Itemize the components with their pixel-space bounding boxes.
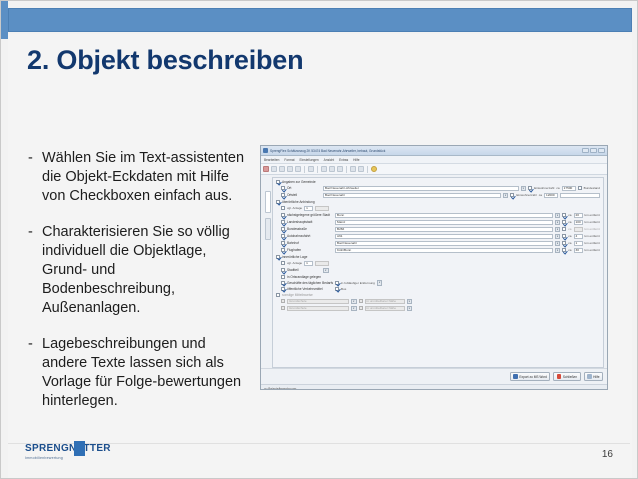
checkbox-verkehrsmittel[interactable] [281, 287, 285, 291]
bold-icon[interactable] [321, 166, 327, 172]
checkbox-bundesstrasse[interactable] [281, 227, 285, 231]
label-anlage: vgl. Anlage [287, 206, 302, 210]
menu-item-einstellungen[interactable]: Einstellungen [300, 158, 319, 162]
list-item: - Charakterisieren Sie so völlig individ… [28, 223, 248, 318]
checkbox-bus[interactable] [335, 287, 339, 291]
input-bundesstrasse[interactable]: B266 [335, 227, 553, 233]
table-row: Ortsteil Bad Neuenahr ▾ Einwohnerzahl ca… [276, 193, 600, 199]
copy-icon[interactable] [279, 166, 285, 172]
input-distanz-landeshauptstadt[interactable]: 100 [574, 220, 583, 226]
table-row: Ort Bad Neuenahr-Ahrweiler ▾ Einwohnerza… [276, 186, 600, 192]
prefix-ca: ca [568, 241, 571, 245]
prefix-ca: ca [568, 227, 571, 231]
prefix-ca: ca [539, 193, 542, 197]
checkbox-distanz-flughafen[interactable] [562, 248, 566, 252]
table-row: öffentliche Verkehrsmittel Bus [276, 287, 600, 291]
export-word-label: Export zu MS Word [519, 375, 547, 379]
checkbox-bundesland[interactable] [578, 186, 582, 190]
chevron-down-icon[interactable]: ▾ [555, 234, 561, 240]
underline-icon[interactable] [337, 166, 343, 172]
input-naehe-2[interactable]: in unmittelbarer Nähe [365, 306, 405, 312]
chevron-down-icon[interactable]: ▾ [407, 299, 413, 305]
group-label: sonstige Mitteilsweise [282, 293, 313, 297]
checkbox-distanz-bundesstrasse[interactable] [562, 227, 566, 231]
group-label: innerörtliche Lage [282, 255, 307, 259]
checkbox-autobahn[interactable] [281, 234, 285, 238]
checkbox-einwohnerzahl-ortsteil[interactable] [510, 193, 514, 197]
app-statusbar: zu Beispielberechnung [261, 384, 607, 390]
input-distanz-stadt[interactable]: 20 [574, 213, 583, 219]
form-area: Angaben zur Gemeinde Ort Bad Neuenahr-Ah… [272, 177, 604, 368]
chevron-down-icon[interactable]: ▾ [503, 193, 509, 199]
checkbox-ort[interactable] [281, 186, 285, 190]
checkbox-groessere-stadt[interactable] [281, 213, 285, 217]
group-label: überörtliche Anbindung [282, 200, 315, 204]
unit-km: km entfernt [585, 248, 600, 252]
bullet-text: Lagebeschreibungen und andere Texte lass… [42, 335, 248, 411]
chevron-down-icon[interactable]: ▾ [351, 299, 357, 305]
menu-item-ansicht[interactable]: Ansicht [324, 158, 334, 162]
close-label: Schließen [563, 375, 577, 379]
app-title: SprengFlex Schätzanzug 2K 53474 Bad Neue… [270, 149, 582, 153]
input-ortsteil[interactable]: Bad Neuenahr [323, 193, 501, 199]
page-title: 2. Objekt beschreiben [27, 45, 303, 76]
app-form-body: Angaben zur Gemeinde Ort Bad Neuenahr-Ah… [261, 175, 607, 368]
window-controls [582, 148, 605, 153]
bullet-list: - Wählen Sie im Text-assistenten die Obj… [28, 149, 248, 428]
table-row: Grundschule ▾ in unmittelbarer Nähe ▾ [276, 306, 600, 312]
vertical-tab-strip [264, 177, 272, 368]
checkbox-anbindung[interactable] [276, 200, 280, 204]
table-row: Landeshauptstadt Mainz ▾ ca 100 km entfe… [276, 220, 600, 226]
input-einwohnerzahl-ortsteil[interactable]: 12000 [544, 193, 558, 199]
minimize-icon[interactable] [582, 148, 589, 153]
checkbox-einwohnerzahl[interactable] [528, 186, 532, 190]
label-ort: Ort [287, 186, 321, 190]
table-row: Grundschule ▾ in unmittelbarer Nähe ▾ [276, 299, 600, 305]
logo-accent-box [74, 441, 85, 456]
info-icon[interactable] [371, 166, 377, 172]
unit-km: km entfernt [585, 234, 600, 238]
checkbox-naehe-2[interactable] [359, 306, 363, 310]
checkbox-innerortliche-lage[interactable] [276, 255, 280, 259]
chevron-down-icon[interactable]: ▾ [555, 241, 561, 247]
chevron-down-icon[interactable]: ▾ [351, 306, 357, 312]
menu-item-hilfe[interactable]: Hilfe [353, 158, 359, 162]
checkbox-taeglicher-bedarf[interactable] [281, 281, 285, 285]
bullet-marker: - [28, 149, 42, 168]
input-distanz-flughafen[interactable]: 30 [574, 248, 583, 254]
toolbar-separator [346, 166, 347, 173]
table-row: Autobahnzufahrt A61 ▾ ca 4 km entfernt [276, 234, 600, 240]
table-row: Bundesstraße B266 ▾ ca km entfernt [276, 227, 600, 233]
group-header: sonstige Mitteilsweise [276, 293, 600, 297]
slide: 2. Objekt beschreiben - Wählen Sie im Te… [0, 0, 638, 479]
checkbox-naehe-1[interactable] [359, 299, 363, 303]
input-autobahn[interactable]: A61 [335, 234, 553, 240]
logo-wordmark: SPRENGNETTER [25, 443, 111, 455]
application-screenshot: SprengFlex Schätzanzug 2K 53474 Bad Neue… [260, 145, 608, 390]
input-lage-anlage-nr[interactable]: 1 [304, 261, 313, 267]
checkbox-flughafen[interactable] [281, 248, 285, 252]
list-icon[interactable] [350, 166, 356, 172]
header-left-edge [1, 1, 8, 39]
input-einwohnerzahl[interactable]: 17500 [562, 186, 576, 192]
help-label: Hilfe [593, 375, 599, 379]
table-row: vgl. Anlage 1 [276, 206, 600, 212]
menu-item-extras[interactable]: Extras [339, 158, 348, 162]
table-row: in Ortsrandlage gelegen [276, 275, 600, 279]
prefix-ca: ca [568, 220, 571, 224]
logo-name: SPRENGNETTER [25, 443, 111, 454]
chevron-down-icon[interactable]: ▾ [521, 186, 527, 192]
label-autobahn: Autobahnzufahrt [287, 234, 333, 238]
input-distanz-bundesstrasse[interactable] [574, 227, 583, 233]
label-ortsteil: Ortsteil [287, 193, 321, 197]
prefix-ca: ca [568, 248, 571, 252]
chevron-down-icon[interactable]: ▾ [407, 306, 413, 312]
header-accent-bar [8, 8, 632, 32]
table-row: vgl. Anlage 1 [276, 261, 600, 267]
export-word-button[interactable]: Export zu MS Word [510, 372, 551, 381]
paste-icon[interactable] [287, 166, 293, 172]
input-bundesland[interactable] [560, 193, 600, 199]
tab-weitere[interactable] [265, 218, 271, 240]
label-flughafen: Flughafen [287, 248, 333, 252]
delete-icon[interactable] [295, 166, 301, 172]
app-menubar: Bearbeiten Format Einstellungen Ansicht … [261, 156, 607, 164]
checkbox-distanz-landeshauptstadt[interactable] [562, 220, 566, 224]
chevron-down-icon[interactable]: ▾ [323, 268, 329, 274]
table-row: Stadtteil ▾ [276, 268, 600, 274]
bullet-marker: - [28, 335, 42, 354]
input-flughafen[interactable]: Köln/Bonn [335, 248, 553, 254]
group-header: Angaben zur Gemeinde [276, 180, 600, 184]
label-bahnhof: Bahnhof [287, 241, 333, 245]
checkbox-gemeinde[interactable] [276, 180, 280, 184]
value-verkehrsmittel: Bus [341, 287, 346, 291]
checkbox-landeshauptstadt[interactable] [281, 220, 285, 224]
checkbox-sonstige[interactable] [276, 293, 280, 297]
input-groessere-stadt[interactable]: Bonn [335, 213, 553, 219]
input-naehe-1[interactable]: in unmittelbarer Nähe [365, 299, 405, 305]
unit-km: km entfernt [585, 220, 600, 224]
chevron-down-icon[interactable]: ▾ [555, 248, 561, 254]
bullet-text: Charakterisieren Sie so völlig individue… [42, 223, 248, 318]
app-toolbar [261, 164, 607, 175]
app-logo-icon [263, 148, 268, 153]
bullet-marker: - [28, 223, 42, 242]
group-anbindung: überörtliche Anbindung vgl. Anlage 1 näc… [276, 200, 600, 253]
help-icon [587, 374, 592, 379]
app-footer-buttons: Export zu MS Word Schließen Hilfe [261, 368, 607, 384]
label-bundesland: Bundesland [584, 186, 600, 190]
label-bundesstrasse: Bundesstraße [287, 227, 333, 231]
input-grundschule-1[interactable]: Grundschule [287, 299, 349, 305]
close-icon [557, 374, 562, 379]
input-landeshauptstadt[interactable]: Mainz [335, 220, 553, 226]
checkbox-grundschule-1[interactable] [281, 299, 285, 303]
toolbar-separator [317, 166, 318, 173]
checkbox-distanz-stadt[interactable] [562, 213, 566, 217]
input-anlage-text[interactable] [315, 206, 329, 212]
checkbox-distanz-autobahn[interactable] [562, 234, 566, 238]
checkbox-anlage[interactable] [281, 206, 285, 210]
prefix-ca: ca [556, 186, 559, 190]
list-item: - Wählen Sie im Text-assistenten die Obj… [28, 149, 248, 206]
list-item: - Lagebeschreibungen und andere Texte la… [28, 335, 248, 411]
toolbar-separator [367, 166, 368, 173]
table-row: nächstgelegene größere Stadt Bonn ▾ ca 2… [276, 213, 600, 219]
input-distanz-bahnhof[interactable]: 1 [574, 241, 583, 247]
checkbox-grundschule-2[interactable] [281, 306, 285, 310]
group-header: innerörtliche Lage [276, 255, 600, 259]
group-header: überörtliche Anbindung [276, 200, 600, 204]
page-number: 16 [602, 449, 613, 460]
chevron-down-icon[interactable]: ▾ [555, 213, 561, 219]
label-taeglicher-bedarf: Geschäfte des täglichen Bedarfs [287, 281, 333, 285]
prefix-ca: ca [568, 234, 571, 238]
word-icon [513, 374, 518, 379]
maximize-icon[interactable] [590, 148, 597, 153]
checkbox-ortsrandlage[interactable] [281, 275, 285, 279]
close-button[interactable]: Schließen [553, 372, 580, 381]
label-lage-anlage: vgl. Anlage [287, 261, 302, 265]
checkbox-stadtteil[interactable] [281, 268, 285, 272]
app-titlebar: SprengFlex Schätzanzug 2K 53474 Bad Neue… [261, 146, 607, 156]
chevron-down-icon[interactable]: ▾ [555, 220, 561, 226]
label-verkehrsmittel: öffentliche Verkehrsmittel [287, 287, 333, 291]
group-label: Angaben zur Gemeinde [282, 180, 316, 184]
value-entfernung: in fußläufiger Entfernung [341, 281, 375, 285]
close-icon[interactable] [598, 148, 605, 153]
label-einwohnerzahl: Einwohnerzahl [534, 186, 554, 190]
input-ort[interactable]: Bad Neuenahr-Ahrweiler [323, 186, 519, 192]
group-gemeinde: Angaben zur Gemeinde Ort Bad Neuenahr-Ah… [276, 180, 600, 198]
checkbox-lage-anlage[interactable] [281, 261, 285, 265]
label-landeshauptstadt: Landeshauptstadt [287, 220, 333, 224]
label-groessere-stadt: nächstgelegene größere Stadt [287, 213, 333, 217]
input-anlage-nr[interactable]: 1 [304, 206, 313, 212]
table-row: Bahnhof Bad Neuenahr ▾ ca 1 km entfernt [276, 241, 600, 247]
input-bahnhof[interactable]: Bad Neuenahr [335, 241, 553, 247]
group-sonstige: sonstige Mitteilsweise Grundschule ▾ in … [276, 293, 600, 311]
bullet-text: Wählen Sie im Text-assistenten die Objek… [42, 149, 248, 206]
menu-item-format[interactable]: Format [284, 158, 294, 162]
label-stadtteil: Stadtteil [287, 268, 321, 272]
tab-lage[interactable] [265, 191, 271, 213]
cut-icon[interactable] [271, 166, 277, 172]
italic-icon[interactable] [329, 166, 335, 172]
group-innerortliche-lage: innerörtliche Lage vgl. Anlage 1 Stadtte… [276, 255, 600, 291]
input-grundschule-2[interactable]: Grundschule [287, 306, 349, 312]
input-lage-anlage-text[interactable] [315, 261, 329, 267]
checkbox-ortsteil[interactable] [281, 193, 285, 197]
checkbox-entfernung[interactable] [335, 281, 339, 285]
checkbox-bahnhof[interactable] [281, 241, 285, 245]
label-einwohnerzahl-ortsteil: Einwohnerzahl [516, 193, 536, 197]
help-button[interactable]: Hilfe [584, 372, 603, 381]
chevron-down-icon[interactable]: ▾ [555, 227, 561, 233]
label-ortsrandlage: in Ortsrandlage gelegen [287, 275, 333, 279]
search-icon[interactable] [358, 166, 364, 172]
unit-km: km entfernt [585, 227, 600, 231]
table-row: Geschäfte des täglichen Bedarfs in fußlä… [276, 280, 600, 286]
menu-item-bearbeiten[interactable]: Bearbeiten [264, 158, 279, 162]
chevron-down-icon[interactable]: ▾ [377, 280, 383, 286]
unit-km: km entfernt [585, 241, 600, 245]
unit-km: km entfernt [585, 213, 600, 217]
table-row: Flughafen Köln/Bonn ▾ ca 30 km entfernt [276, 248, 600, 254]
undo-icon[interactable] [308, 166, 314, 172]
logo-subtitle: Immobilienbewertung [25, 456, 111, 460]
save-icon[interactable] [263, 166, 269, 172]
checkbox-distanz-bahnhof[interactable] [562, 241, 566, 245]
company-logo: SPRENGNETTER Immobilienbewertung [25, 443, 111, 460]
toolbar-separator [304, 166, 305, 173]
input-distanz-autobahn[interactable]: 4 [574, 234, 583, 240]
prefix-ca: ca [568, 213, 571, 217]
